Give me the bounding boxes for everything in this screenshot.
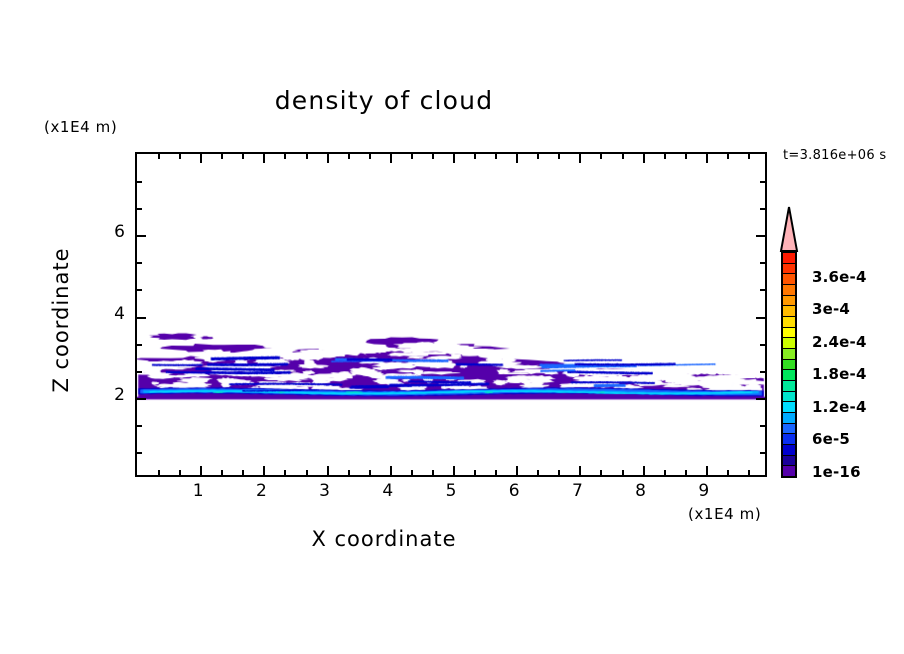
y-axis-unit-label: (x1E4 m) bbox=[44, 118, 117, 136]
colorbar-band bbox=[783, 306, 795, 317]
timestamp-label: t=3.816e+06 s bbox=[783, 148, 886, 163]
x-tick bbox=[348, 154, 350, 159]
x-tick bbox=[643, 466, 645, 475]
x-tick-label: 5 bbox=[431, 481, 471, 501]
x-tick bbox=[706, 154, 708, 163]
x-tick-label: 8 bbox=[621, 481, 661, 501]
y-tick bbox=[756, 317, 765, 319]
x-tick bbox=[748, 154, 750, 159]
x-tick bbox=[600, 470, 602, 475]
colorbar-band bbox=[783, 349, 795, 360]
x-tick bbox=[242, 470, 244, 475]
x-tick bbox=[390, 154, 392, 163]
colorbar-band bbox=[783, 413, 795, 424]
colorbar-band bbox=[783, 392, 795, 403]
colorbar-band bbox=[783, 328, 795, 339]
y-tick bbox=[760, 181, 765, 183]
colorbar-band bbox=[783, 456, 795, 467]
colorbar-bands bbox=[781, 251, 797, 478]
x-tick-label: 9 bbox=[684, 481, 724, 501]
y-tick bbox=[137, 344, 142, 346]
y-tick bbox=[137, 262, 142, 264]
x-tick-label: 2 bbox=[241, 481, 281, 501]
y-tick bbox=[137, 181, 142, 183]
y-tick bbox=[137, 452, 142, 454]
y-tick bbox=[756, 235, 765, 237]
x-tick-label: 6 bbox=[494, 481, 534, 501]
x-tick bbox=[411, 470, 413, 475]
x-tick bbox=[411, 154, 413, 159]
page-title: density of cloud bbox=[0, 86, 768, 115]
colorbar-band bbox=[783, 445, 795, 456]
y-tick bbox=[137, 371, 142, 373]
colorbar-tick-label: 1e-16 bbox=[812, 463, 861, 481]
colorbar-band bbox=[783, 264, 795, 275]
colorbar-band bbox=[783, 360, 795, 371]
x-tick bbox=[664, 470, 666, 475]
x-tick bbox=[327, 154, 329, 163]
x-tick bbox=[748, 470, 750, 475]
x-tick bbox=[453, 466, 455, 475]
x-tick bbox=[179, 470, 181, 475]
colorbar-band bbox=[783, 370, 795, 381]
colorbar-tick-label: 6e-5 bbox=[812, 430, 850, 448]
x-tick bbox=[263, 466, 265, 475]
x-tick bbox=[495, 154, 497, 159]
x-tick bbox=[158, 470, 160, 475]
x-tick bbox=[306, 470, 308, 475]
x-tick bbox=[263, 154, 265, 163]
y-tick bbox=[760, 262, 765, 264]
x-tick bbox=[600, 154, 602, 159]
colorbar-tick-label: 2.4e-4 bbox=[812, 333, 867, 351]
x-tick bbox=[200, 154, 202, 163]
y-tick bbox=[137, 317, 146, 319]
x-tick bbox=[390, 466, 392, 475]
x-tick bbox=[643, 154, 645, 163]
colorbar-band bbox=[783, 317, 795, 328]
x-tick bbox=[495, 470, 497, 475]
x-tick bbox=[179, 154, 181, 159]
colorbar-tick-label: 1.8e-4 bbox=[812, 365, 867, 383]
y-tick bbox=[760, 344, 765, 346]
x-tick bbox=[685, 470, 687, 475]
x-tick bbox=[369, 470, 371, 475]
x-tick-label: 1 bbox=[178, 481, 218, 501]
y-tick bbox=[760, 452, 765, 454]
x-tick bbox=[537, 154, 539, 159]
y-tick bbox=[760, 208, 765, 210]
x-tick bbox=[200, 466, 202, 475]
x-tick bbox=[558, 470, 560, 475]
x-axis-unit-label: (x1E4 m) bbox=[688, 505, 761, 523]
x-tick bbox=[579, 154, 581, 163]
plot-area bbox=[135, 152, 767, 477]
x-tick bbox=[474, 470, 476, 475]
x-tick bbox=[432, 154, 434, 159]
x-tick bbox=[579, 466, 581, 475]
colorbar-tick-label: 1.2e-4 bbox=[812, 398, 867, 416]
y-tick bbox=[137, 289, 142, 291]
y-tick bbox=[760, 371, 765, 373]
x-tick bbox=[685, 154, 687, 159]
x-tick bbox=[432, 470, 434, 475]
x-tick bbox=[727, 154, 729, 159]
x-tick bbox=[221, 470, 223, 475]
y-tick bbox=[137, 425, 142, 427]
x-tick bbox=[727, 470, 729, 475]
x-tick bbox=[516, 154, 518, 163]
y-tick bbox=[756, 398, 765, 400]
x-tick bbox=[284, 470, 286, 475]
x-tick bbox=[158, 154, 160, 159]
x-tick bbox=[516, 466, 518, 475]
x-tick bbox=[348, 470, 350, 475]
x-tick bbox=[622, 470, 624, 475]
colorbar-band bbox=[783, 434, 795, 445]
colorbar-arrow-cap-icon bbox=[779, 206, 799, 252]
x-axis-label: X coordinate bbox=[0, 527, 768, 551]
x-tick bbox=[622, 154, 624, 159]
colorbar-band bbox=[783, 424, 795, 435]
x-tick bbox=[558, 154, 560, 159]
colorbar-band bbox=[783, 338, 795, 349]
colorbar bbox=[779, 206, 799, 478]
x-tick bbox=[706, 466, 708, 475]
x-tick bbox=[453, 154, 455, 163]
colorbar-band bbox=[783, 402, 795, 413]
x-tick bbox=[221, 154, 223, 159]
y-axis-label: Z coordinate bbox=[49, 240, 73, 400]
y-tick bbox=[760, 425, 765, 427]
contour-field-canvas bbox=[137, 154, 765, 475]
y-tick-label: 4 bbox=[95, 304, 125, 324]
y-tick bbox=[137, 398, 146, 400]
colorbar-band bbox=[783, 296, 795, 307]
y-tick-label: 2 bbox=[95, 385, 125, 405]
y-tick-label: 6 bbox=[95, 222, 125, 242]
x-tick-label: 7 bbox=[557, 481, 597, 501]
colorbar-band bbox=[783, 285, 795, 296]
y-tick bbox=[137, 208, 142, 210]
x-tick-label: 3 bbox=[305, 481, 345, 501]
colorbar-band bbox=[783, 466, 795, 476]
x-tick bbox=[242, 154, 244, 159]
x-tick bbox=[327, 466, 329, 475]
colorbar-tick-label: 3.6e-4 bbox=[812, 268, 867, 286]
x-tick bbox=[284, 154, 286, 159]
x-tick bbox=[537, 470, 539, 475]
x-tick bbox=[369, 154, 371, 159]
y-tick bbox=[137, 235, 146, 237]
x-tick bbox=[474, 154, 476, 159]
x-tick-label: 4 bbox=[368, 481, 408, 501]
x-tick bbox=[664, 154, 666, 159]
colorbar-band bbox=[783, 274, 795, 285]
x-tick bbox=[306, 154, 308, 159]
y-tick bbox=[760, 289, 765, 291]
colorbar-tick-label: 3e-4 bbox=[812, 300, 850, 318]
colorbar-band bbox=[783, 381, 795, 392]
colorbar-band bbox=[783, 253, 795, 264]
